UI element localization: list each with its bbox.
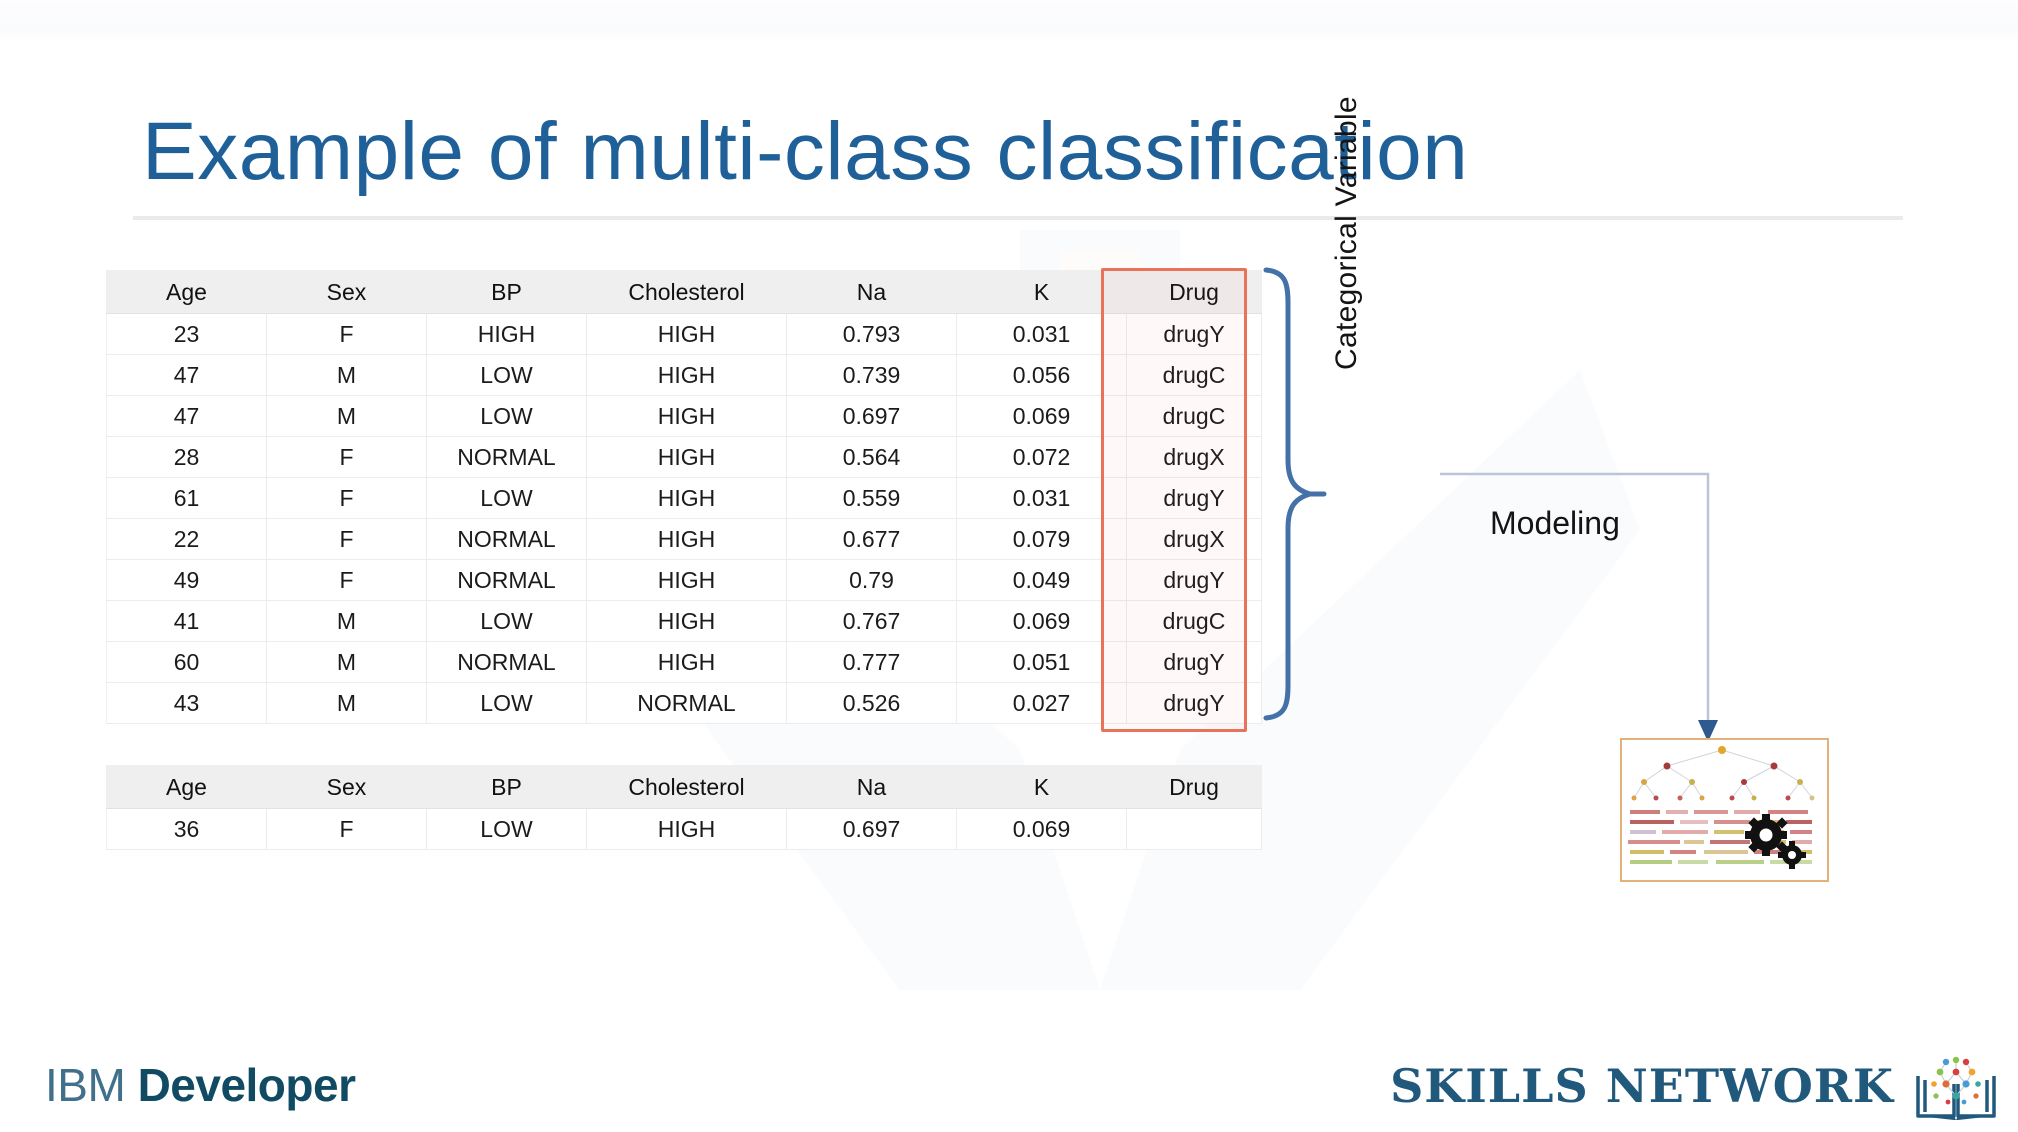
table-row: 43 M LOW NORMAL 0.526 0.027 drugY xyxy=(107,683,1262,724)
cell-age: 61 xyxy=(107,478,267,519)
table-row: 23 F HIGH HIGH 0.793 0.031 drugY xyxy=(107,314,1262,355)
cell-na: 0.697 xyxy=(787,396,957,437)
table-row: 61 F LOW HIGH 0.559 0.031 drugY xyxy=(107,478,1262,519)
cell-na: 0.677 xyxy=(787,519,957,560)
cell-bp: NORMAL xyxy=(427,437,587,478)
cell-cholesterol: HIGH xyxy=(587,560,787,601)
cell-sex: F xyxy=(267,809,427,850)
table-header-row: Age Sex BP Cholesterol Na K Drug xyxy=(107,271,1262,314)
table-row: 47 M LOW HIGH 0.697 0.069 drugC xyxy=(107,396,1262,437)
cell-bp: NORMAL xyxy=(427,560,587,601)
column-header-na: Na xyxy=(787,271,957,314)
cell-k: 0.069 xyxy=(957,396,1127,437)
cell-k: 0.069 xyxy=(957,601,1127,642)
cell-drug: drugY xyxy=(1127,642,1262,683)
cell-na: 0.739 xyxy=(787,355,957,396)
cell-sex: M xyxy=(267,683,427,724)
cell-cholesterol: HIGH xyxy=(587,519,787,560)
cell-sex: M xyxy=(267,396,427,437)
top-band xyxy=(0,0,2018,42)
cell-cholesterol: HIGH xyxy=(587,809,787,850)
cell-bp: NORMAL xyxy=(427,519,587,560)
column-header-sex: Sex xyxy=(267,271,427,314)
cell-cholesterol: HIGH xyxy=(587,437,787,478)
drug-dataset-table: Age Sex BP Cholesterol Na K Drug 23 F HI… xyxy=(106,270,1262,724)
cell-drug: drugC xyxy=(1127,601,1262,642)
skills-network-wordmark: SKILLS NETWORK xyxy=(1390,1059,1894,1113)
cell-k: 0.027 xyxy=(957,683,1127,724)
cell-na: 0.526 xyxy=(787,683,957,724)
table-row: 41 M LOW HIGH 0.767 0.069 drugC xyxy=(107,601,1262,642)
cell-k: 0.069 xyxy=(957,809,1127,850)
page-title: Example of multi-class classification xyxy=(142,104,1468,200)
table-row: 49 F NORMAL HIGH 0.79 0.049 drugY xyxy=(107,560,1262,601)
table-row: 28 F NORMAL HIGH 0.564 0.072 drugX xyxy=(107,437,1262,478)
cell-bp: LOW xyxy=(427,355,587,396)
cell-drug-empty xyxy=(1127,809,1262,850)
column-header-cholesterol: Cholesterol xyxy=(587,766,787,809)
prediction-input-table: Age Sex BP Cholesterol Na K Drug 36 F LO… xyxy=(106,765,1262,850)
cell-drug: drugY xyxy=(1127,478,1262,519)
cell-na: 0.767 xyxy=(787,601,957,642)
cell-age: 36 xyxy=(107,809,267,850)
cell-drug: drugY xyxy=(1127,560,1262,601)
cell-sex: M xyxy=(267,601,427,642)
classifier-thumbnail xyxy=(1620,738,1829,882)
column-header-drug: Drug xyxy=(1127,766,1262,809)
column-header-age: Age xyxy=(107,271,267,314)
cell-na: 0.697 xyxy=(787,809,957,850)
cell-bp: LOW xyxy=(427,478,587,519)
cell-sex: F xyxy=(267,519,427,560)
column-header-cholesterol: Cholesterol xyxy=(587,271,787,314)
cell-bp: LOW xyxy=(427,809,587,850)
cell-bp: LOW xyxy=(427,396,587,437)
column-header-sex: Sex xyxy=(267,766,427,809)
cell-na: 0.777 xyxy=(787,642,957,683)
cell-drug: drugC xyxy=(1127,396,1262,437)
skills-network-logo: SKILLS NETWORK xyxy=(1390,1050,2000,1122)
cell-sex: F xyxy=(267,314,427,355)
cell-age: 41 xyxy=(107,601,267,642)
skills-network-book-icon xyxy=(1912,1050,2000,1122)
modeling-label: Modeling xyxy=(1490,505,1620,542)
column-header-k: K xyxy=(957,766,1127,809)
cell-cholesterol: HIGH xyxy=(587,642,787,683)
cell-age: 60 xyxy=(107,642,267,683)
title-underline-rule xyxy=(133,216,1903,220)
cell-k: 0.056 xyxy=(957,355,1127,396)
cell-bp: LOW xyxy=(427,601,587,642)
cell-sex: F xyxy=(267,478,427,519)
cell-na: 0.793 xyxy=(787,314,957,355)
cell-age: 47 xyxy=(107,396,267,437)
table-body: 36 F LOW HIGH 0.697 0.069 xyxy=(107,809,1262,850)
cell-cholesterol: HIGH xyxy=(587,355,787,396)
ibm-developer-logo: IBM Developer xyxy=(45,1058,356,1112)
cell-age: 23 xyxy=(107,314,267,355)
developer-wordmark: Developer xyxy=(138,1059,356,1111)
cell-k: 0.079 xyxy=(957,519,1127,560)
column-header-na: Na xyxy=(787,766,957,809)
cell-age: 22 xyxy=(107,519,267,560)
column-header-k: K xyxy=(957,271,1127,314)
cell-age: 49 xyxy=(107,560,267,601)
cell-drug: drugY xyxy=(1127,314,1262,355)
column-header-bp: BP xyxy=(427,766,587,809)
table-body: 23 F HIGH HIGH 0.793 0.031 drugY 47 M LO… xyxy=(107,314,1262,724)
cell-k: 0.051 xyxy=(957,642,1127,683)
cell-bp: LOW xyxy=(427,683,587,724)
cell-age: 43 xyxy=(107,683,267,724)
column-header-bp: BP xyxy=(427,271,587,314)
categorical-variable-label: Categorical Variable xyxy=(1330,120,1364,370)
table-header-row: Age Sex BP Cholesterol Na K Drug xyxy=(107,766,1262,809)
cell-drug: drugC xyxy=(1127,355,1262,396)
cell-age: 28 xyxy=(107,437,267,478)
cell-age: 47 xyxy=(107,355,267,396)
classifier-label: Classifier xyxy=(1880,540,1914,740)
cell-na: 0.564 xyxy=(787,437,957,478)
cell-sex: M xyxy=(267,355,427,396)
cell-k: 0.031 xyxy=(957,314,1127,355)
cell-bp: HIGH xyxy=(427,314,587,355)
cell-sex: F xyxy=(267,437,427,478)
cell-sex: F xyxy=(267,560,427,601)
cell-cholesterol: HIGH xyxy=(587,396,787,437)
cell-cholesterol: HIGH xyxy=(587,314,787,355)
cell-sex: M xyxy=(267,642,427,683)
decision-tree-icon xyxy=(1622,740,1823,876)
cell-cholesterol: HIGH xyxy=(587,478,787,519)
cell-k: 0.031 xyxy=(957,478,1127,519)
cell-na: 0.559 xyxy=(787,478,957,519)
table-row: 60 M NORMAL HIGH 0.777 0.051 drugY xyxy=(107,642,1262,683)
cell-na: 0.79 xyxy=(787,560,957,601)
table-row: 36 F LOW HIGH 0.697 0.069 xyxy=(107,809,1262,850)
cell-drug: drugX xyxy=(1127,519,1262,560)
column-header-drug: Drug xyxy=(1127,271,1262,314)
cell-bp: NORMAL xyxy=(427,642,587,683)
cell-k: 0.072 xyxy=(957,437,1127,478)
table-row: 47 M LOW HIGH 0.739 0.056 drugC xyxy=(107,355,1262,396)
cell-k: 0.049 xyxy=(957,560,1127,601)
cell-drug: drugX xyxy=(1127,437,1262,478)
cell-drug: drugY xyxy=(1127,683,1262,724)
column-header-age: Age xyxy=(107,766,267,809)
cell-cholesterol: NORMAL xyxy=(587,683,787,724)
categorical-variable-brace-icon xyxy=(1258,264,1328,724)
cell-cholesterol: HIGH xyxy=(587,601,787,642)
table-row: 22 F NORMAL HIGH 0.677 0.079 drugX xyxy=(107,519,1262,560)
gear-icon xyxy=(1745,814,1788,856)
ibm-wordmark: IBM xyxy=(45,1059,125,1111)
